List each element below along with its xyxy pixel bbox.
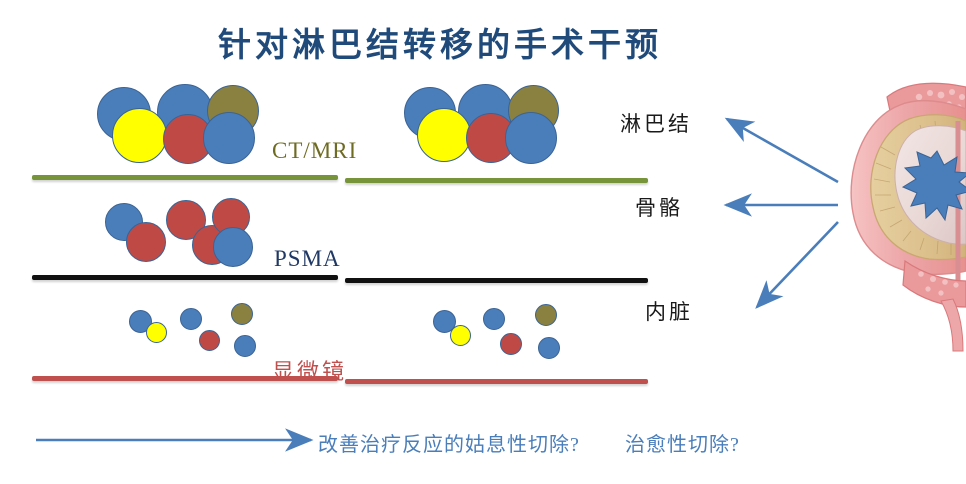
tumor-cell-circle (417, 108, 471, 162)
tumor-cell-circle (483, 308, 505, 330)
site-label-lymph-node: 淋巴结 (620, 108, 692, 138)
modality-label-ctmri: CT/MRI (272, 138, 357, 164)
modality-label-microscope: 显微镜 (272, 354, 347, 386)
prostate-anatomy-illustration (845, 75, 966, 365)
tumor-cell-circle (450, 325, 471, 346)
tumor-cell-circle (505, 112, 557, 164)
page-title: 针对淋巴结转移的手术干预 (0, 18, 880, 66)
tumor-cell-circle (203, 112, 255, 164)
bottom-question-curative: 治愈性切除? (625, 428, 740, 457)
arrow-to-viscera (757, 222, 838, 307)
tumor-cell-circle (538, 337, 560, 359)
arrow-to-lymph-node (727, 119, 838, 182)
divider-line-microscope-left (32, 376, 338, 381)
tumor-cell-circle (112, 108, 167, 163)
site-label-viscera: 内脏 (645, 296, 693, 326)
tumor-cell-circle (213, 227, 253, 267)
tumor-cell-circle (199, 330, 220, 351)
tumor-cell-circle (180, 308, 202, 330)
slide-canvas: 针对淋巴结转移的手术干预 CT/MRI PSMA 显微镜 淋巴结 骨骼 内脏 改… (0, 0, 966, 484)
divider-line-ctmri-left (32, 175, 338, 180)
bottom-question-palliative: 改善治疗反应的姑息性切除? (318, 428, 580, 457)
divider-line-microscope-right (345, 379, 648, 384)
divider-line-psma-right (345, 278, 648, 283)
tumor-cell-circle (126, 222, 166, 262)
tumor-cell-circle (146, 322, 167, 343)
site-label-bone: 骨骼 (635, 192, 683, 222)
tumor-cell-circle (231, 303, 253, 325)
divider-line-psma-left (32, 275, 338, 280)
tumor-cell-circle (234, 335, 256, 357)
tumor-cell-circle (535, 304, 557, 326)
tumor-cell-circle (500, 333, 522, 355)
divider-line-ctmri-right (345, 178, 648, 183)
modality-label-psma: PSMA (274, 246, 341, 272)
